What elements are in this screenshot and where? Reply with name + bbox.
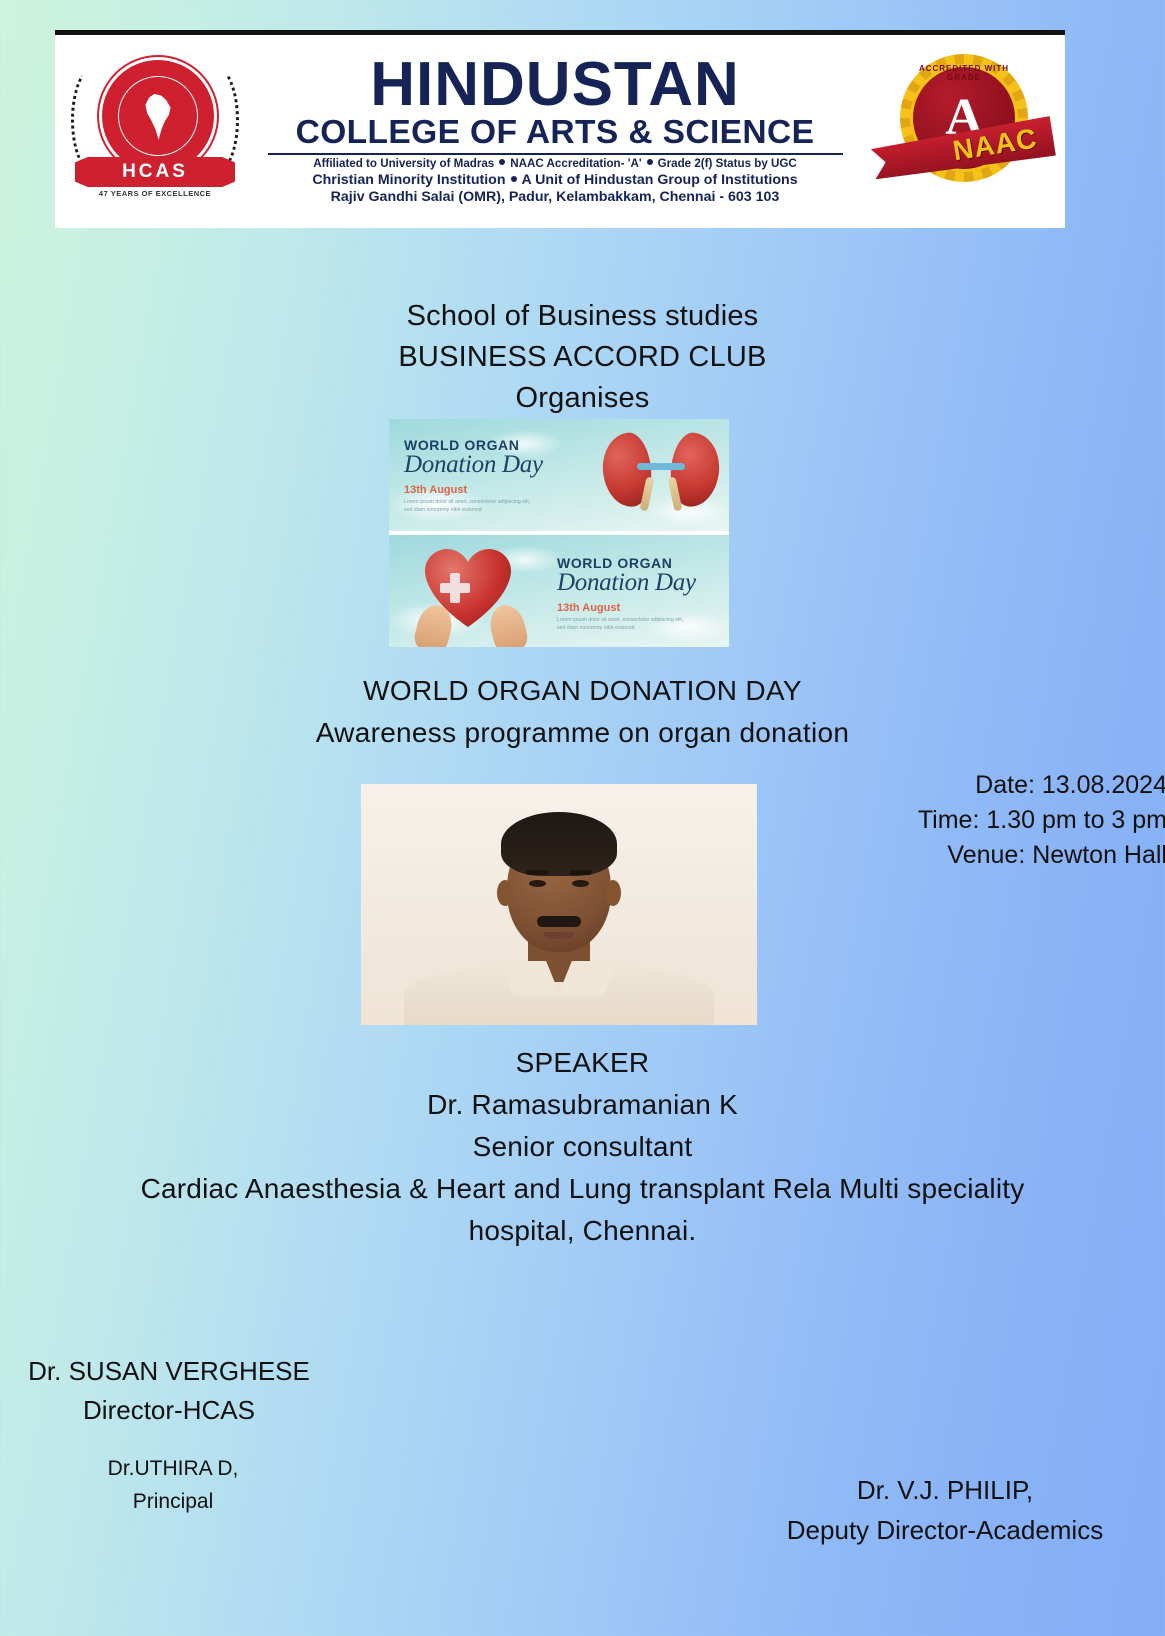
director-role: Director-HCAS (24, 1391, 314, 1430)
photo-mouth (544, 932, 574, 939)
event-title-block: WORLD ORGAN DONATION DAY Awareness progr… (0, 670, 1165, 754)
hand-right-shape (486, 602, 530, 647)
photo-ear-right (605, 880, 621, 906)
photo-eyebrow-right (570, 870, 592, 875)
banner-heart: WORLD ORGAN Donation Day 13th August Lor… (389, 535, 729, 647)
banner-2-script: Donation Day (557, 569, 696, 597)
bullet-icon (647, 159, 653, 165)
photo-ear-left (497, 880, 513, 906)
crest-inner-circle (118, 76, 198, 156)
accreditation-line: Affiliated to University of MadrasNAAC A… (313, 157, 797, 171)
banner-kidneys: WORLD ORGAN Donation Day 13th August Lor… (389, 419, 729, 531)
speaker-affiliation-line-1: Cardiac Anaesthesia & Heart and Lung tra… (0, 1168, 1165, 1210)
letterhead-badge-area: A ACCREDITED WITH GRADE NAAC (855, 35, 1065, 228)
banner-2-date: 13th August (557, 602, 696, 614)
india-map-icon (143, 94, 173, 140)
letterhead-logo-area: HCAS 47 YEARS OF EXCELLENCE (55, 35, 255, 228)
speaker-designation: Senior consultant (0, 1126, 1165, 1168)
deputy-director-name: Dr. V.J. PHILIP, (735, 1470, 1155, 1510)
institution-line: Christian Minority InstitutionA Unit of … (312, 172, 797, 190)
address-line: Rajiv Gandhi Salai (OMR), Padur, Kelamba… (331, 189, 780, 207)
banner-2-text: WORLD ORGAN Donation Day 13th August Lor… (557, 555, 696, 633)
letterhead-text-block: HINDUSTAN COLLEGE OF ARTS & SCIENCE Affi… (255, 56, 855, 207)
crest-tagline: 47 YEARS OF EXCELLENCE (65, 189, 245, 198)
banner-1-date: 13th August (404, 484, 543, 496)
speaker-name: Dr. Ramasubramanian K (0, 1084, 1165, 1126)
signature-deputy-director: Dr. V.J. PHILIP, Deputy Director-Academi… (735, 1470, 1155, 1550)
photo-moustache (537, 916, 581, 927)
event-details-block: Date: 13.08.2024 Time: 1.30 pm to 3 pm V… (918, 768, 1165, 873)
naac-arc-text: ACCREDITED WITH GRADE (912, 64, 1016, 82)
renal-vessel-right (659, 463, 685, 470)
kidneys-icon (601, 425, 721, 525)
medical-cross-icon (440, 573, 470, 603)
speaker-affiliation-line-2: hospital, Chennai. (0, 1210, 1165, 1252)
bullet-icon (511, 176, 517, 182)
event-date: Date: 13.08.2024 (918, 768, 1165, 803)
bullet-icon (499, 159, 505, 165)
event-time: Time: 1.30 pm to 3 pm (918, 803, 1165, 838)
photo-eye-left (529, 880, 546, 887)
signature-principal: Dr.UTHIRA D, Principal (78, 1452, 268, 1518)
principal-name: Dr.UTHIRA D, (78, 1452, 268, 1485)
speaker-label: SPEAKER (0, 1042, 1165, 1084)
photo-eye-right (572, 880, 589, 887)
group-unit-text: A Unit of Hindustan Group of Institution… (522, 172, 798, 188)
deputy-director-role: Deputy Director-Academics (735, 1510, 1155, 1550)
letterhead-divider (268, 153, 843, 155)
photo-hair (501, 812, 617, 876)
banner-1-text: WORLD ORGAN Donation Day 13th August Lor… (404, 437, 543, 515)
organises-label: Organises (0, 378, 1165, 419)
school-name: School of Business studies (0, 296, 1165, 337)
event-venue: Venue: Newton Hall (918, 838, 1165, 873)
banner-1-blurb: Lorem ipsum dolor sit amet, consectetur … (404, 499, 534, 515)
minority-institution-text: Christian Minority Institution (312, 172, 505, 188)
college-name-subtitle: COLLEGE OF ARTS & SCIENCE (296, 115, 815, 150)
signature-director: Dr. SUSAN VERGHESE Director-HCAS (24, 1352, 314, 1430)
banner-1-script: Donation Day (404, 451, 543, 479)
college-letterhead: HCAS 47 YEARS OF EXCELLENCE HINDUSTAN CO… (55, 30, 1065, 228)
event-banner-images: WORLD ORGAN Donation Day 13th August Lor… (389, 419, 729, 647)
event-subtitle: Awareness programme on organ donation (0, 712, 1165, 754)
crest-ribbon: HCAS (75, 157, 235, 187)
speaker-info-block: SPEAKER Dr. Ramasubramanian K Senior con… (0, 1042, 1165, 1252)
affiliation-text: Affiliated to University of Madras (313, 157, 494, 170)
naac-badge: A ACCREDITED WITH GRADE NAAC (860, 52, 1060, 212)
principal-role: Principal (78, 1485, 268, 1518)
hcas-crest-logo: HCAS 47 YEARS OF EXCELLENCE (65, 49, 245, 214)
organiser-block: School of Business studies BUSINESS ACCO… (0, 296, 1165, 419)
heart-in-hands-icon (411, 545, 531, 647)
speaker-photo (361, 784, 757, 1025)
banner-2-blurb: Lorem ipsum dolor sit amet, consectetur … (557, 617, 687, 633)
naac-accreditation-text: NAAC Accreditation- 'A' (510, 157, 641, 170)
club-name: BUSINESS ACCORD CLUB (0, 337, 1165, 378)
event-title: WORLD ORGAN DONATION DAY (0, 670, 1165, 712)
ugc-status-text: Grade 2(f) Status by UGC (658, 157, 797, 170)
photo-eyebrow-left (526, 870, 548, 875)
director-name: Dr. SUSAN VERGHESE (24, 1352, 314, 1391)
college-name-title: HINDUSTAN (370, 56, 740, 115)
